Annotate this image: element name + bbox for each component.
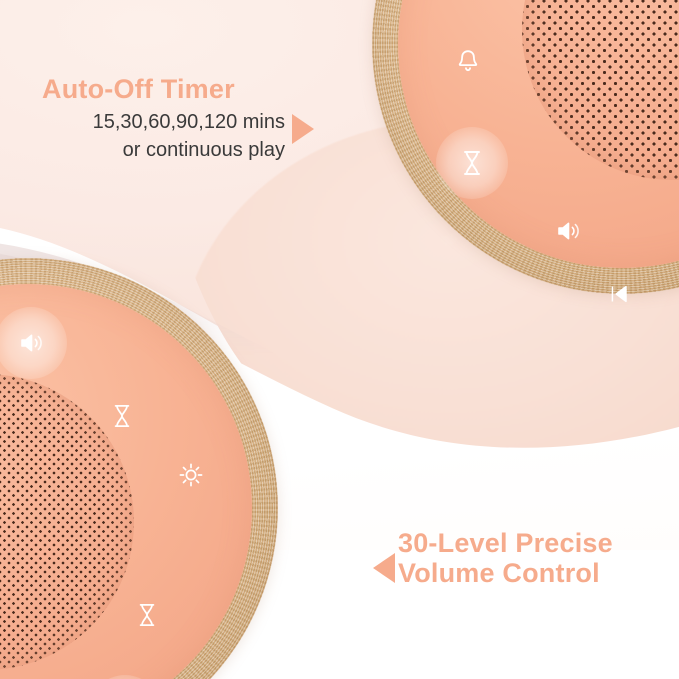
product-feature-graphic: Auto-Off Timer 15,30,60,90,120 mins or c… [0,0,679,679]
hourglass-timer-icon[interactable] [105,399,139,433]
callout-volume-control: 30-Level Precise Volume Control [398,528,660,588]
triangle-right-marker [292,114,314,144]
previous-track-icon[interactable] [602,277,636,311]
volume-speaker-icon[interactable] [14,326,48,360]
callout-subtext: 15,30,60,90,120 mins or continuous play [40,109,285,164]
bell-icon[interactable] [451,44,485,78]
volume-speaker-icon[interactable] [551,214,585,248]
callout-headline: 30-Level Precise Volume Control [398,528,660,588]
hourglass-timer-icon[interactable] [130,598,164,632]
hourglass-timer-icon[interactable] [455,146,489,180]
callout-headline: Auto-Off Timer [40,74,285,104]
brightness-sun-icon[interactable] [174,458,208,492]
callout-auto-off-timer: Auto-Off Timer 15,30,60,90,120 mins or c… [40,74,285,164]
triangle-left-marker [373,553,395,583]
